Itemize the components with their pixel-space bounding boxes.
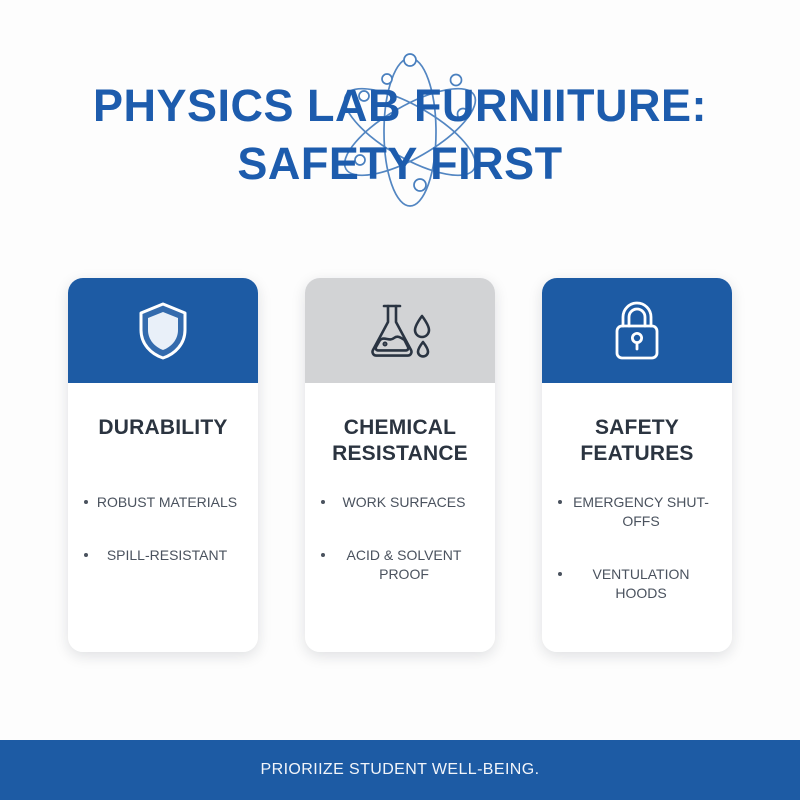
feature-card-chemical-resistance[interactable]: CHEMICAL RESISTANCE WORK SURFACES ACID &… [305,278,495,652]
bullet-text: VENTULATION HOODS [593,566,690,601]
feature-card-safety-features[interactable]: SAFETY FEATURES EMERGENCY SHUT-OFFS VENT… [542,278,732,652]
card-bullets-chemical-resistance: WORK SURFACES ACID & SOLVENT PROOF [319,467,481,618]
shield-icon [136,300,190,362]
bullet-text: ROBUST MATERIALS [97,494,237,510]
card-body-durability: DURABILITY ROBUST MATERIALS SPILL-RESIST… [68,383,258,652]
padlock-icon [609,300,665,362]
list-item: WORK SURFACES [319,493,481,512]
footer-bar: PRIORIIZE STUDENT WELL-BEING. [0,740,800,800]
infographic-poster: PHYSICS LAB FURNIITURE: SAFETY FIRST DUR… [0,0,800,800]
card-body-chemical-resistance: CHEMICAL RESISTANCE WORK SURFACES ACID &… [305,383,495,652]
footer-text: PRIORIIZE STUDENT WELL-BEING. [261,761,540,779]
card-header-chemical-resistance [305,278,495,383]
card-body-safety-features: SAFETY FEATURES EMERGENCY SHUT-OFFS VENT… [542,383,732,652]
bullet-text: WORK SURFACES [343,494,466,510]
list-item: ROBUST MATERIALS [82,493,244,512]
feature-card-durability[interactable]: DURABILITY ROBUST MATERIALS SPILL-RESIST… [68,278,258,652]
flask-droplets-icon [367,300,433,362]
card-header-safety-features [542,278,732,383]
card-bullets-durability: ROBUST MATERIALS SPILL-RESISTANT [82,467,244,599]
bullet-dot-icon [321,553,325,557]
bullet-dot-icon [84,553,88,557]
list-item: SPILL-RESISTANT [82,546,244,565]
feature-card-row: DURABILITY ROBUST MATERIALS SPILL-RESIST… [68,278,732,654]
bullet-dot-icon [558,500,562,504]
title-line-2: SAFETY FIRST [0,136,800,192]
bullet-text: SPILL-RESISTANT [107,547,227,563]
card-title-durability: DURABILITY [82,383,244,467]
list-item: ACID & SOLVENT PROOF [319,546,481,584]
card-title-chemical-resistance: CHEMICAL RESISTANCE [319,383,481,467]
bullet-text: ACID & SOLVENT PROOF [347,547,462,582]
card-header-durability [68,278,258,383]
title-line-1: PHYSICS LAB FURNIITURE: [0,78,800,134]
bullet-text: EMERGENCY SHUT-OFFS [573,494,709,529]
list-item: VENTULATION HOODS [556,565,718,603]
bullet-dot-icon [558,572,562,576]
card-bullets-safety-features: EMERGENCY SHUT-OFFS VENTULATION HOODS [556,467,718,637]
poster-title: PHYSICS LAB FURNIITURE: SAFETY FIRST [0,78,800,192]
card-title-safety-features: SAFETY FEATURES [556,383,718,467]
list-item: EMERGENCY SHUT-OFFS [556,493,718,531]
bullet-dot-icon [321,500,325,504]
bullet-dot-icon [84,500,88,504]
